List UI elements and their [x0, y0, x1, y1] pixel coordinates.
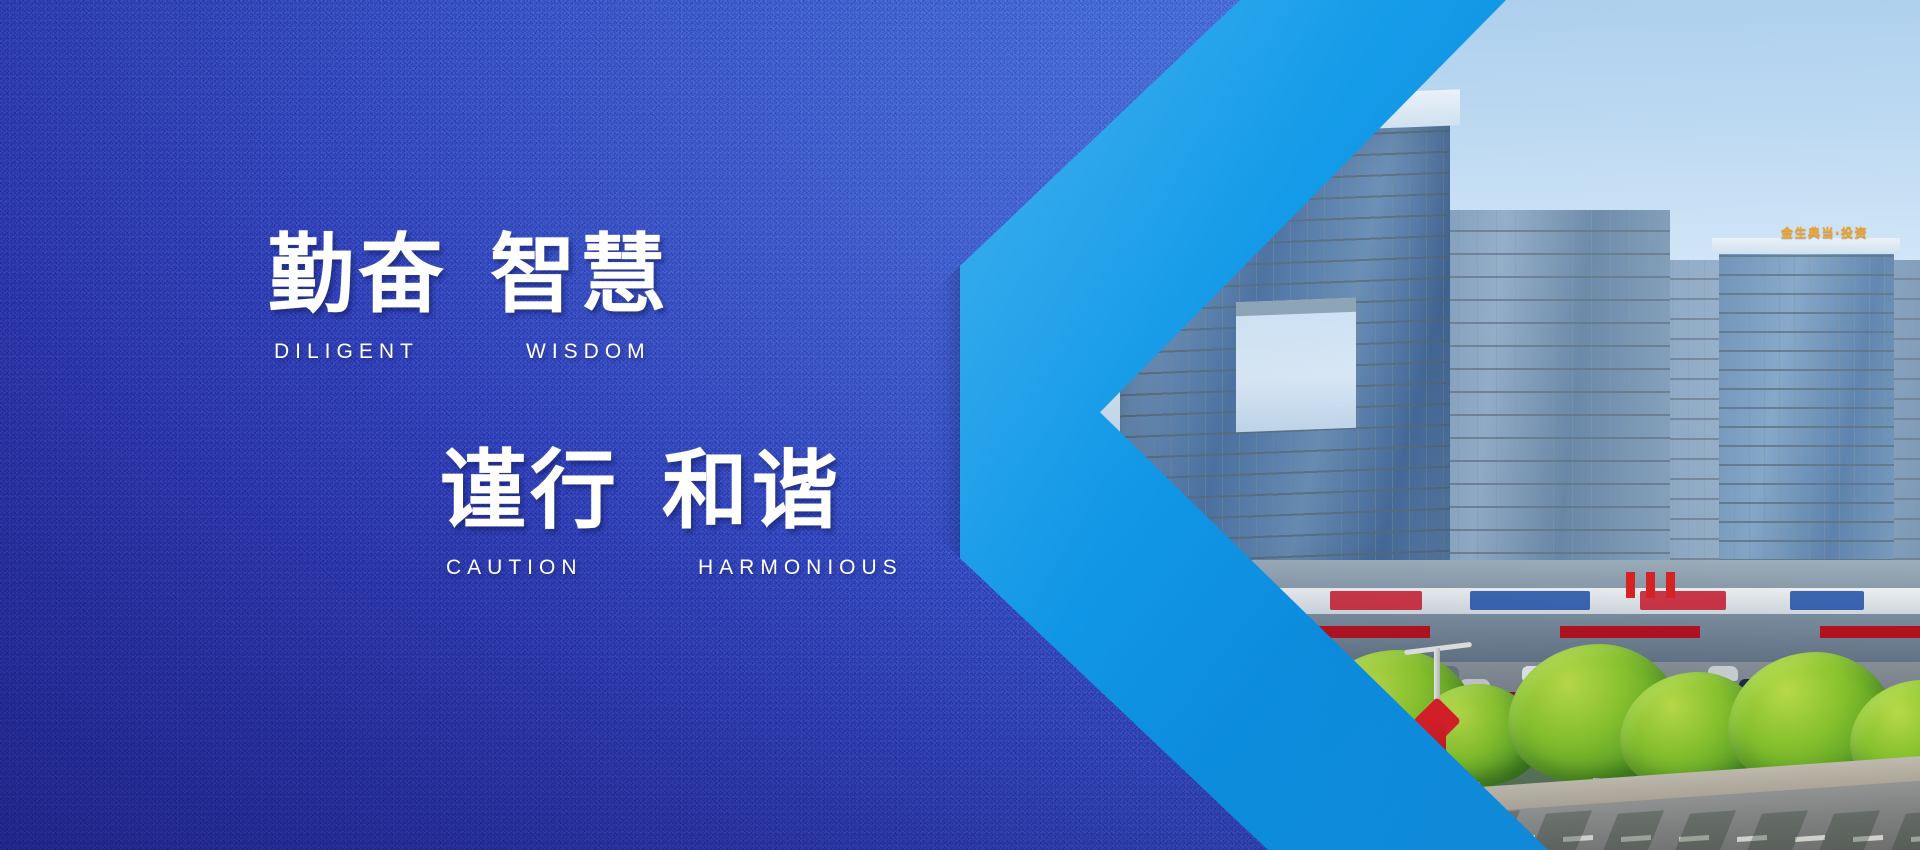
slogan-line-2: 谨行 和谐 CAUTION HARMONIOUS [440, 448, 903, 580]
flag [1646, 572, 1655, 598]
slogan-chinese-2: 谨行 和谐 [440, 448, 903, 534]
hero-banner: 金生典当·投资 江苏国泰 [0, 0, 1920, 850]
slogan-cn-word-caution: 谨行 [440, 448, 620, 534]
shop-awning [1560, 626, 1700, 638]
slogan-cn-word-diligent: 勤奋 [268, 232, 448, 318]
slogan-copy: 勤奋 智慧 DILIGENT WISDOM 谨行 和谐 CAUTION HARM… [0, 0, 1000, 850]
slogan-chinese-1: 勤奋 智慧 [268, 232, 670, 318]
flag [1626, 572, 1635, 598]
slogan-english-1: DILIGENT WISDOM [274, 340, 670, 364]
shop-sign [1790, 591, 1864, 610]
slogan-english-2: CAUTION HARMONIOUS [446, 556, 903, 580]
slogan-cn-word-harmonious: 和谐 [662, 448, 842, 534]
side-office-tower [1719, 250, 1894, 580]
slogan-en-word-wisdom: WISDOM [526, 340, 651, 364]
shop-sign [1470, 591, 1590, 610]
shop-awning [1820, 626, 1920, 638]
tower-archway [1236, 298, 1356, 433]
slogan-en-word-diligent: DILIGENT [274, 340, 526, 364]
flag [1666, 572, 1675, 598]
slogan-en-word-harmonious: HARMONIOUS [698, 556, 903, 580]
shop-sign [1330, 591, 1422, 610]
slogan-line-1: 勤奋 智慧 DILIGENT WISDOM [268, 232, 670, 364]
background-building-mid [1420, 210, 1670, 600]
side-building-sign: 金生典当·投资 [1781, 224, 1868, 241]
slogan-en-word-caution: CAUTION [446, 556, 698, 580]
slogan-cn-word-wisdom: 智慧 [490, 232, 670, 318]
